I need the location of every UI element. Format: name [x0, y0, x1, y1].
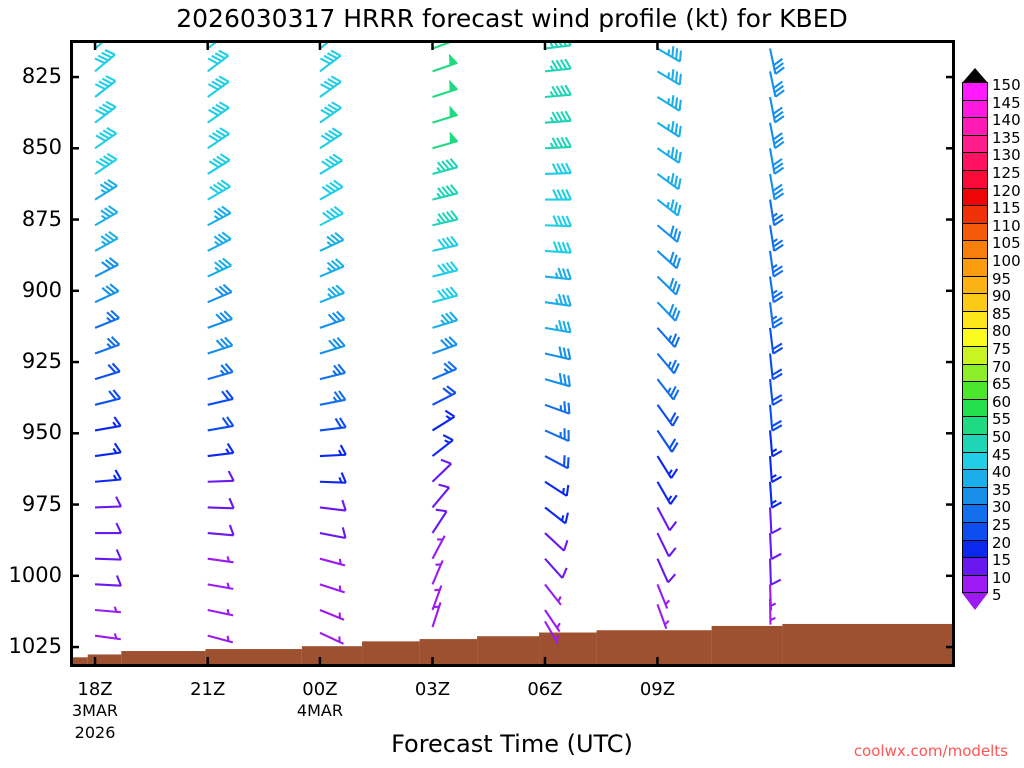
colorbar-swatch: [962, 434, 988, 453]
colorbar-tick-label: 15: [992, 553, 1011, 568]
colorbar-swatch: [962, 469, 988, 488]
y-tick-label: 975: [0, 492, 62, 516]
chart-title: 2026030317 HRRR forecast wind profile (k…: [0, 4, 1024, 33]
colorbar-tick-label: 105: [992, 236, 1021, 251]
x-tick-sublabel-date: 4MAR: [260, 701, 380, 720]
colorbar-swatch: [962, 258, 988, 277]
colorbar-swatch: [962, 152, 988, 171]
y-tick-label: 1025: [0, 634, 62, 658]
colorbar-swatch: [962, 223, 988, 242]
colorbar-swatch: [962, 522, 988, 541]
colorbar-swatch: [962, 346, 988, 365]
y-tick-label: 1000: [0, 563, 62, 587]
colorbar-tick-label: 20: [992, 536, 1011, 551]
colorbar-swatch: [962, 135, 988, 154]
colorbar-legend[interactable]: 1501451401351301251201151101051009590858…: [962, 82, 1024, 642]
colorbar-tick-label: 50: [992, 430, 1011, 445]
colorbar-swatch: [962, 205, 988, 224]
y-tick-label: 925: [0, 349, 62, 373]
colorbar-tick-label: 85: [992, 307, 1011, 322]
colorbar-tick-label: 125: [992, 166, 1021, 181]
colorbar-tick-label: 45: [992, 448, 1011, 463]
colorbar-tick-label: 110: [992, 219, 1021, 234]
colorbar-swatch: [962, 82, 988, 101]
x-tick-label: 21Z: [148, 679, 268, 700]
colorbar-tick-label: 100: [992, 254, 1021, 269]
x-tick-label: 09Z: [597, 679, 717, 700]
colorbar-tick-label: 40: [992, 465, 1011, 480]
colorbar-swatch: [962, 117, 988, 136]
colorbar-swatch: [962, 328, 988, 347]
y-tick-label: 850: [0, 135, 62, 159]
colorbar-swatch: [962, 170, 988, 189]
colorbar-tick-label: 5: [992, 588, 1002, 603]
colorbar-tick-label: 30: [992, 500, 1011, 515]
x-tick-label: 18Z: [35, 679, 155, 700]
colorbar-swatch: [962, 452, 988, 471]
colorbar-swatch: [962, 364, 988, 383]
colorbar-tick-label: 60: [992, 395, 1011, 410]
colorbar-tick-label: 120: [992, 184, 1021, 199]
colorbar-tick-label: 135: [992, 131, 1021, 146]
colorbar-tick-label: 25: [992, 518, 1011, 533]
x-tick-label: 03Z: [372, 679, 492, 700]
colorbar-tick-label: 90: [992, 289, 1011, 304]
colorbar-tick-label: 150: [992, 78, 1021, 93]
colorbar-tick-label: 65: [992, 377, 1011, 392]
plot-frame: [70, 40, 955, 667]
colorbar-tick-label: 75: [992, 342, 1011, 357]
plot-area: [70, 40, 955, 667]
colorbar-swatch: [962, 188, 988, 207]
colorbar-swatch: [962, 504, 988, 523]
colorbar-tick-label: 55: [992, 412, 1011, 427]
colorbar-tick-label: 35: [992, 483, 1011, 498]
colorbar-tick-label: 140: [992, 113, 1021, 128]
colorbar-tick-label: 95: [992, 272, 1011, 287]
wind-profile-chart: 2026030317 HRRR forecast wind profile (k…: [0, 0, 1024, 768]
y-tick-label: 875: [0, 207, 62, 231]
colorbar-swatch: [962, 540, 988, 559]
x-tick-label: 00Z: [260, 679, 380, 700]
colorbar-tick-label: 130: [992, 148, 1021, 163]
colorbar-swatch: [962, 487, 988, 506]
y-tick-label: 950: [0, 420, 62, 444]
colorbar-swatch: [962, 557, 988, 576]
colorbar-tick-label: 70: [992, 360, 1011, 375]
watermark-link[interactable]: coolwx.com/modelts: [854, 742, 1008, 760]
colorbar-tick-label: 115: [992, 201, 1021, 216]
x-tick-sublabel-date: 3MAR: [35, 701, 155, 720]
colorbar-swatch: [962, 311, 988, 330]
colorbar-swatch: [962, 100, 988, 119]
y-tick-label: 825: [0, 64, 62, 88]
colorbar-tick-label: 145: [992, 96, 1021, 111]
colorbar-swatch: [962, 416, 988, 435]
colorbar-tick-label: 10: [992, 571, 1011, 586]
y-tick-label: 900: [0, 278, 62, 302]
colorbar-swatch: [962, 399, 988, 418]
colorbar-swatch: [962, 381, 988, 400]
colorbar-arrow-bottom: [962, 593, 988, 610]
colorbar-swatch: [962, 240, 988, 259]
x-tick-label: 06Z: [485, 679, 605, 700]
colorbar-swatch: [962, 276, 988, 295]
colorbar-swatch: [962, 293, 988, 312]
colorbar-arrow-top: [962, 68, 988, 83]
colorbar-tick-label: 80: [992, 324, 1011, 339]
colorbar-swatch: [962, 575, 988, 594]
